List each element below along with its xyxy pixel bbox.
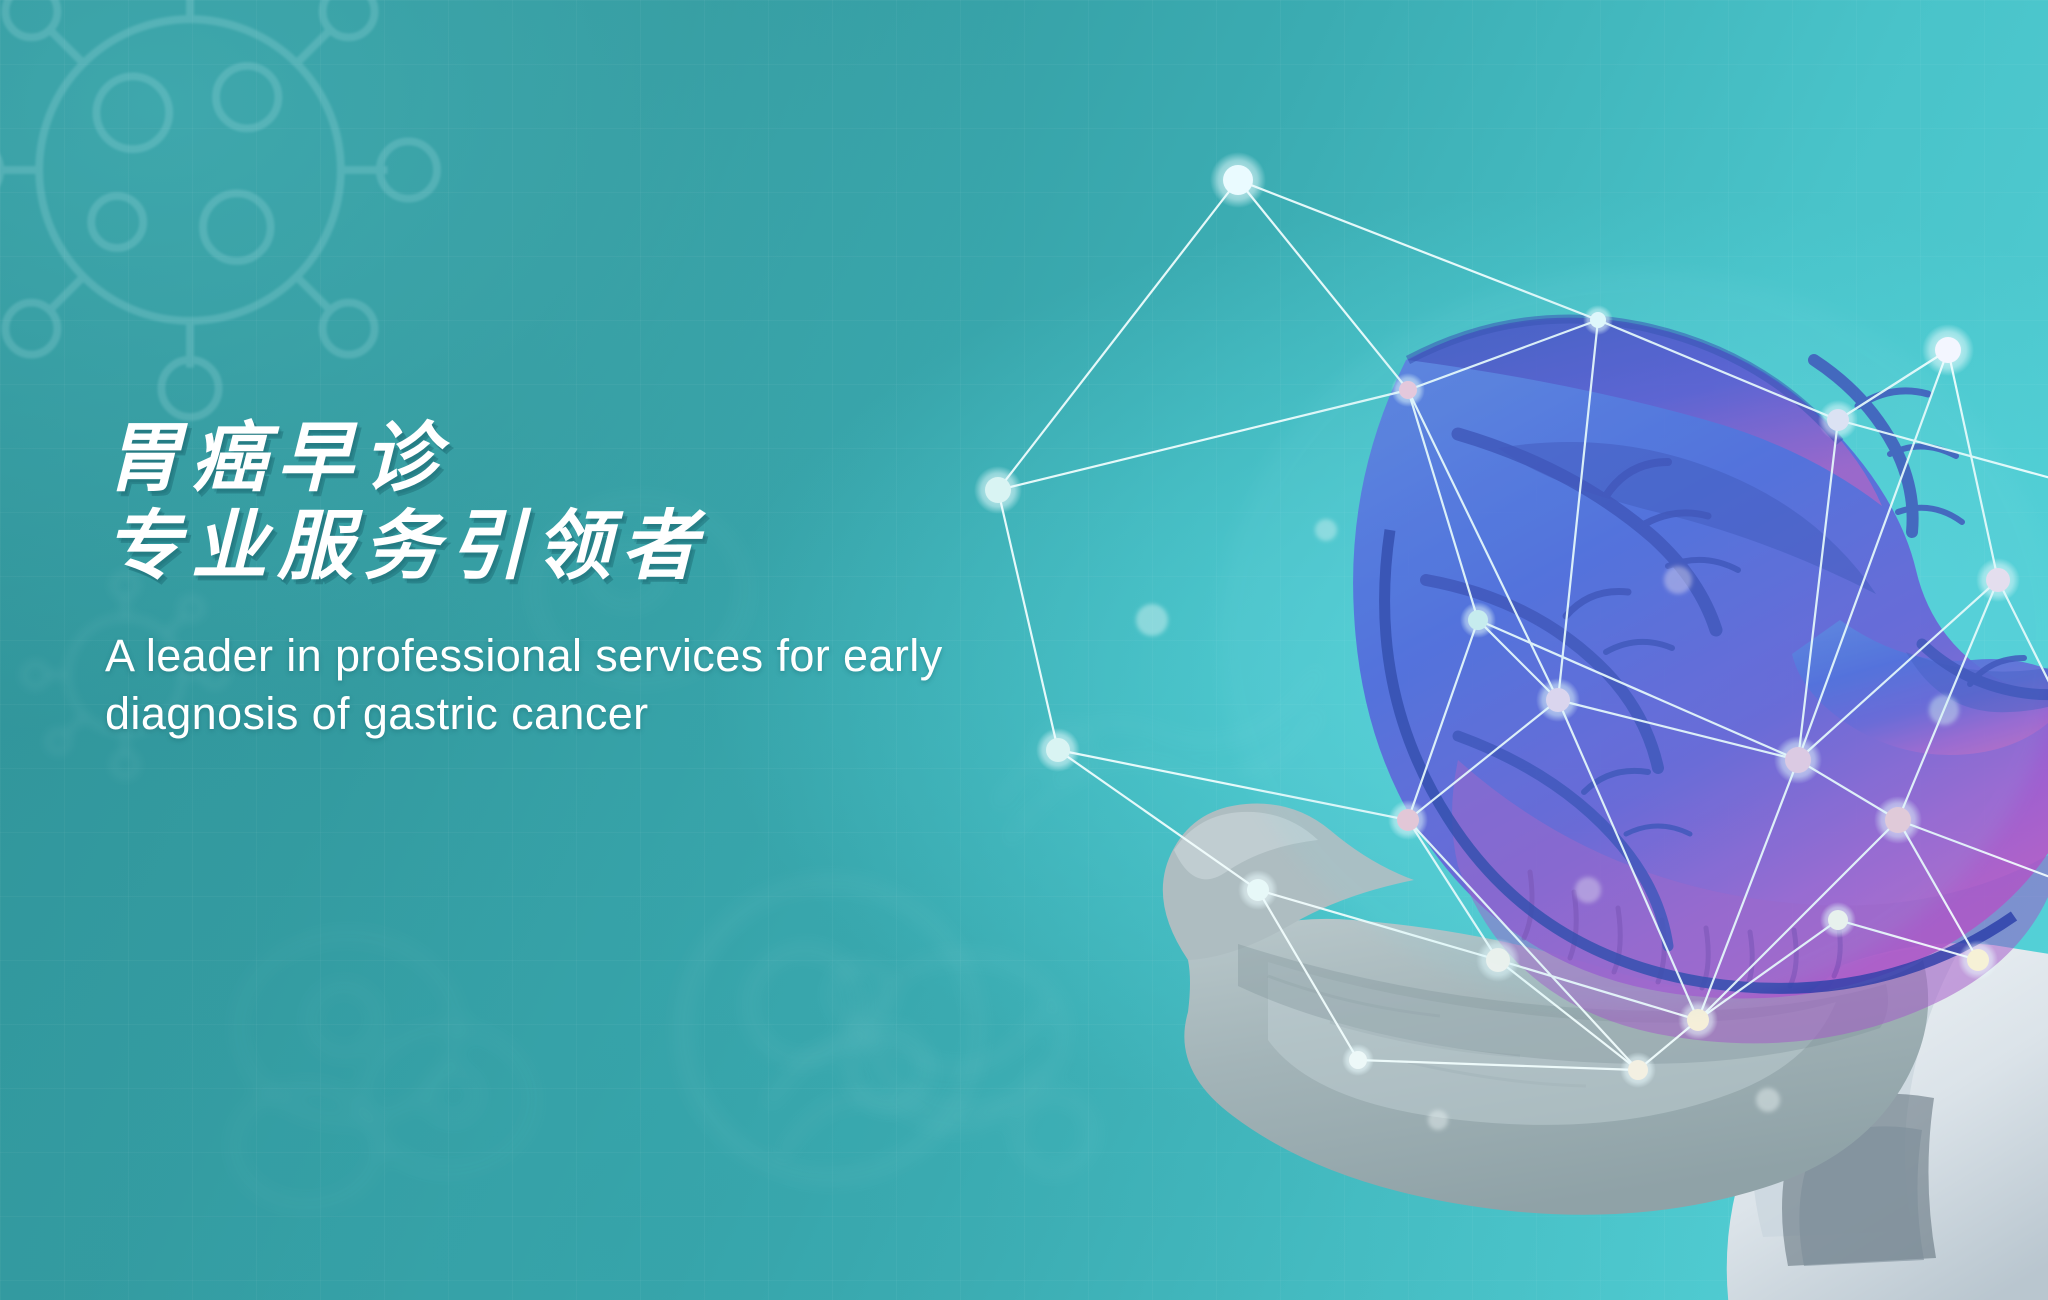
stomach-in-hand-illustration [938, 60, 2048, 1300]
cell-cluster-motif-icon [180, 880, 600, 1260]
gastric-cancer-hero-banner: 胃癌早诊 专业服务引领者 A leader in professional se… [0, 0, 2048, 1300]
virus-motif-icon [0, 0, 450, 430]
